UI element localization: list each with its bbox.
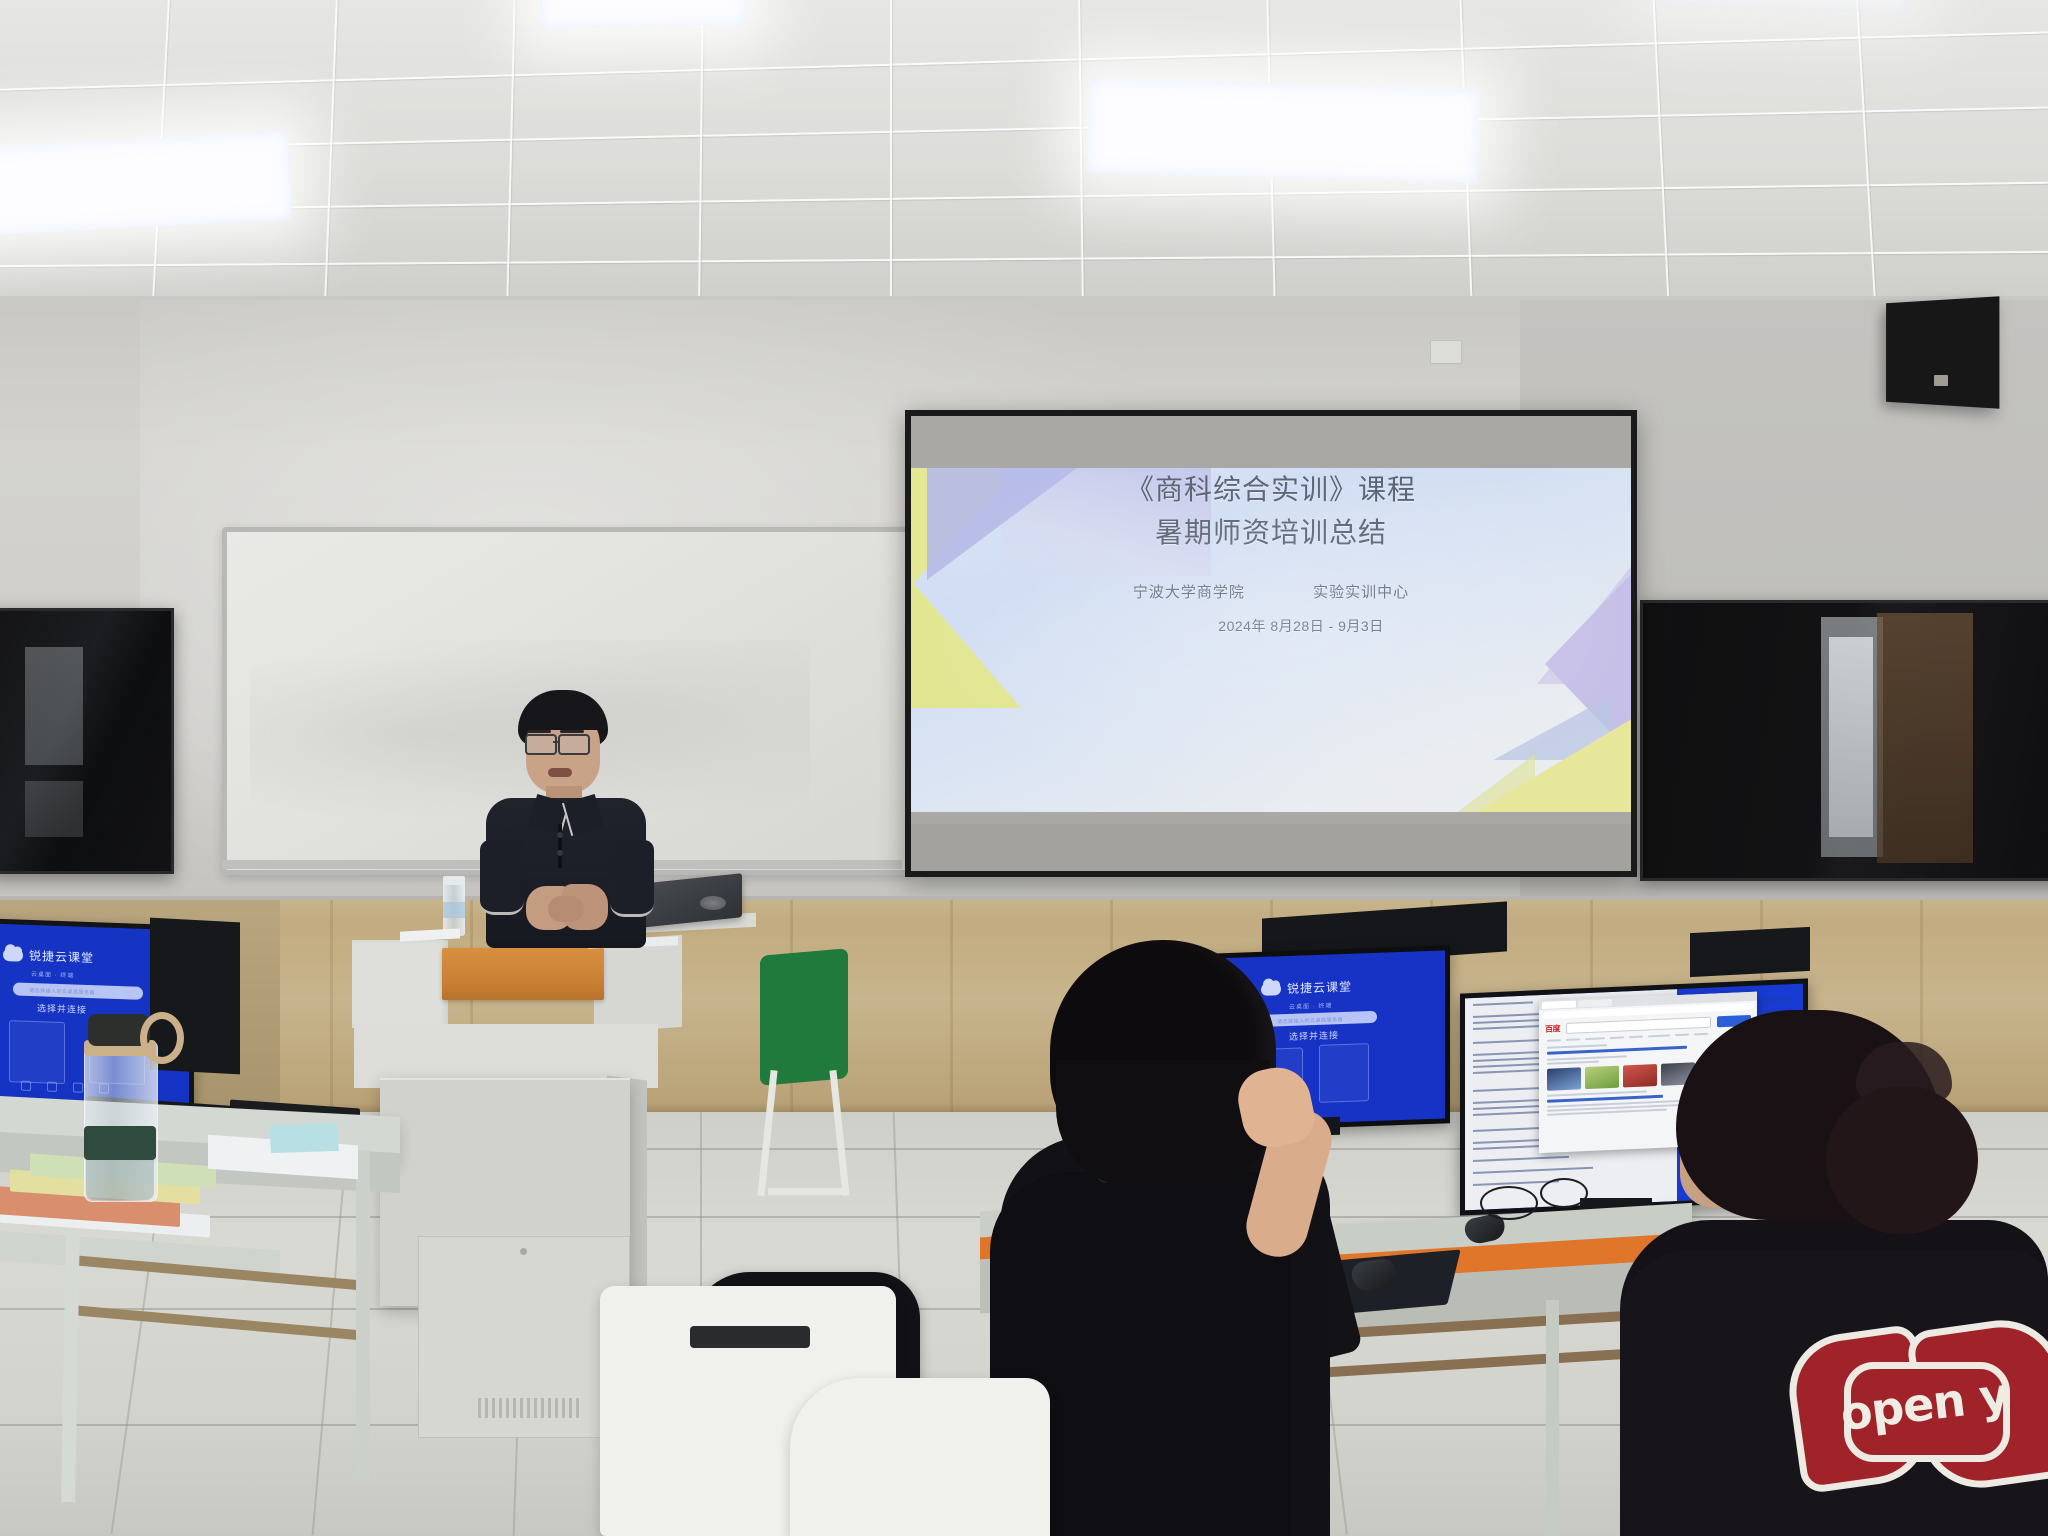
lectern-wood-panel: [442, 948, 604, 1000]
ceiling-light-2: [0, 131, 292, 236]
ruijie-subtitle: 云桌面 · 终端: [31, 969, 74, 980]
polo-button-2: [557, 850, 563, 856]
presenter-mouth: [548, 768, 572, 777]
lectern[interactable]: [352, 928, 682, 1308]
lectern-cabinet: [380, 1078, 630, 1306]
chair-legs: [760, 1070, 856, 1200]
presenter-sleeve-right: [610, 840, 654, 917]
student-right-hair-bun: [1826, 1086, 1978, 1234]
slide-org-left: 宁波大学商学院: [1133, 581, 1245, 602]
chair-seat-panel: [826, 1448, 922, 1508]
presenter-fingers: [548, 896, 584, 922]
projection-screen[interactable]: 《商科综合实训》课程 暑期师资培训总结 宁波大学商学院 实验实训中心 2024年…: [905, 410, 1637, 877]
browser-tab[interactable]: [1542, 1001, 1576, 1009]
presenter-sleeve-left: [480, 840, 524, 915]
ceiling: [0, 0, 2048, 300]
bottle-water-level: [86, 1158, 154, 1200]
ruijie-logo: 锐捷云课堂: [3, 946, 94, 966]
wall-speaker-icon: [1886, 296, 1999, 408]
cloud-icon: [3, 948, 23, 962]
slide-date: 2024年 8月28日 - 9月3日: [911, 616, 1631, 636]
lock-icon[interactable]: [520, 1248, 527, 1255]
wall-socket[interactable]: [1430, 340, 1462, 364]
slide-shape-yellow-wedge: [1473, 718, 1631, 812]
mouse-cable-1: [1480, 1186, 1538, 1220]
window-frame-reflection: [1877, 613, 1973, 863]
connect-label[interactable]: 选择并连接: [37, 1001, 87, 1016]
mouse-cable-2: [1540, 1178, 1588, 1208]
green-chair-back[interactable]: [760, 948, 848, 1086]
polo-button-1: [557, 832, 563, 838]
slide-title-line-1: 《商科综合实训》课程: [911, 468, 1631, 511]
monitor-back-row-2[interactable]: [1690, 927, 1810, 977]
presenter-eyebrow-left: [527, 730, 551, 733]
bottle-handle[interactable]: [140, 1012, 184, 1064]
lectern-left-wing: [352, 940, 448, 1028]
glasses-icon-left: [525, 734, 557, 755]
bottle-sleeve: [84, 1126, 156, 1160]
glasses-bridge: [553, 741, 560, 743]
ceiling-light-4: [1659, 0, 1911, 14]
ruijie-app-name: 锐捷云课堂: [29, 947, 94, 966]
wall-display-right[interactable]: [1640, 600, 2048, 881]
bottle-label: [443, 902, 465, 918]
screen-bottom-band: [911, 824, 1631, 871]
glasses-icon-right: [558, 734, 590, 755]
screen-top-band: [911, 416, 1631, 468]
rog-logo-icon: [700, 896, 726, 910]
slide-title-line-2: 暑期师资培训总结: [911, 511, 1631, 554]
ceiling-light-3: [1087, 79, 1479, 184]
presenter-eyebrow-right: [560, 730, 584, 733]
chair-handle-slot: [690, 1326, 810, 1348]
speaker-badge: [1934, 375, 1948, 386]
slide-organizations: 宁波大学商学院 实验实训中心: [911, 581, 1631, 602]
lectern-vent: [478, 1398, 584, 1418]
polo-placket: [558, 824, 562, 868]
classroom-scene: 《商科综合实训》课程 暑期师资培训总结 宁波大学商学院 实验实训中心 2024年…: [0, 0, 2048, 1536]
ticket-card[interactable]: [269, 1123, 339, 1153]
student-right: open y: [1620, 1000, 2048, 1536]
desk-left-leg-2: [356, 1150, 370, 1480]
slide-text-block: 《商科综合实训》课程 暑期师资培训总结 宁波大学商学院 实验实训中心 2024年…: [911, 468, 1631, 636]
presenter-hair-front: [520, 696, 606, 730]
desktop-card-1[interactable]: [9, 1020, 65, 1084]
student-center-hair-back: [1056, 1060, 1270, 1188]
slide-org-right: 实验实训中心: [1313, 581, 1409, 602]
presenter: [470, 690, 660, 950]
jacket-logo: open y: [1784, 1318, 2048, 1490]
baidu-logo: 百度: [1545, 1023, 1560, 1035]
desk-right-leg-2: [1546, 1300, 1559, 1536]
bottle-cap: [443, 876, 465, 885]
browser-tab-2[interactable]: [1578, 999, 1612, 1007]
wall-display-left[interactable]: [0, 608, 174, 874]
ceiling-light-1: [539, 0, 746, 28]
